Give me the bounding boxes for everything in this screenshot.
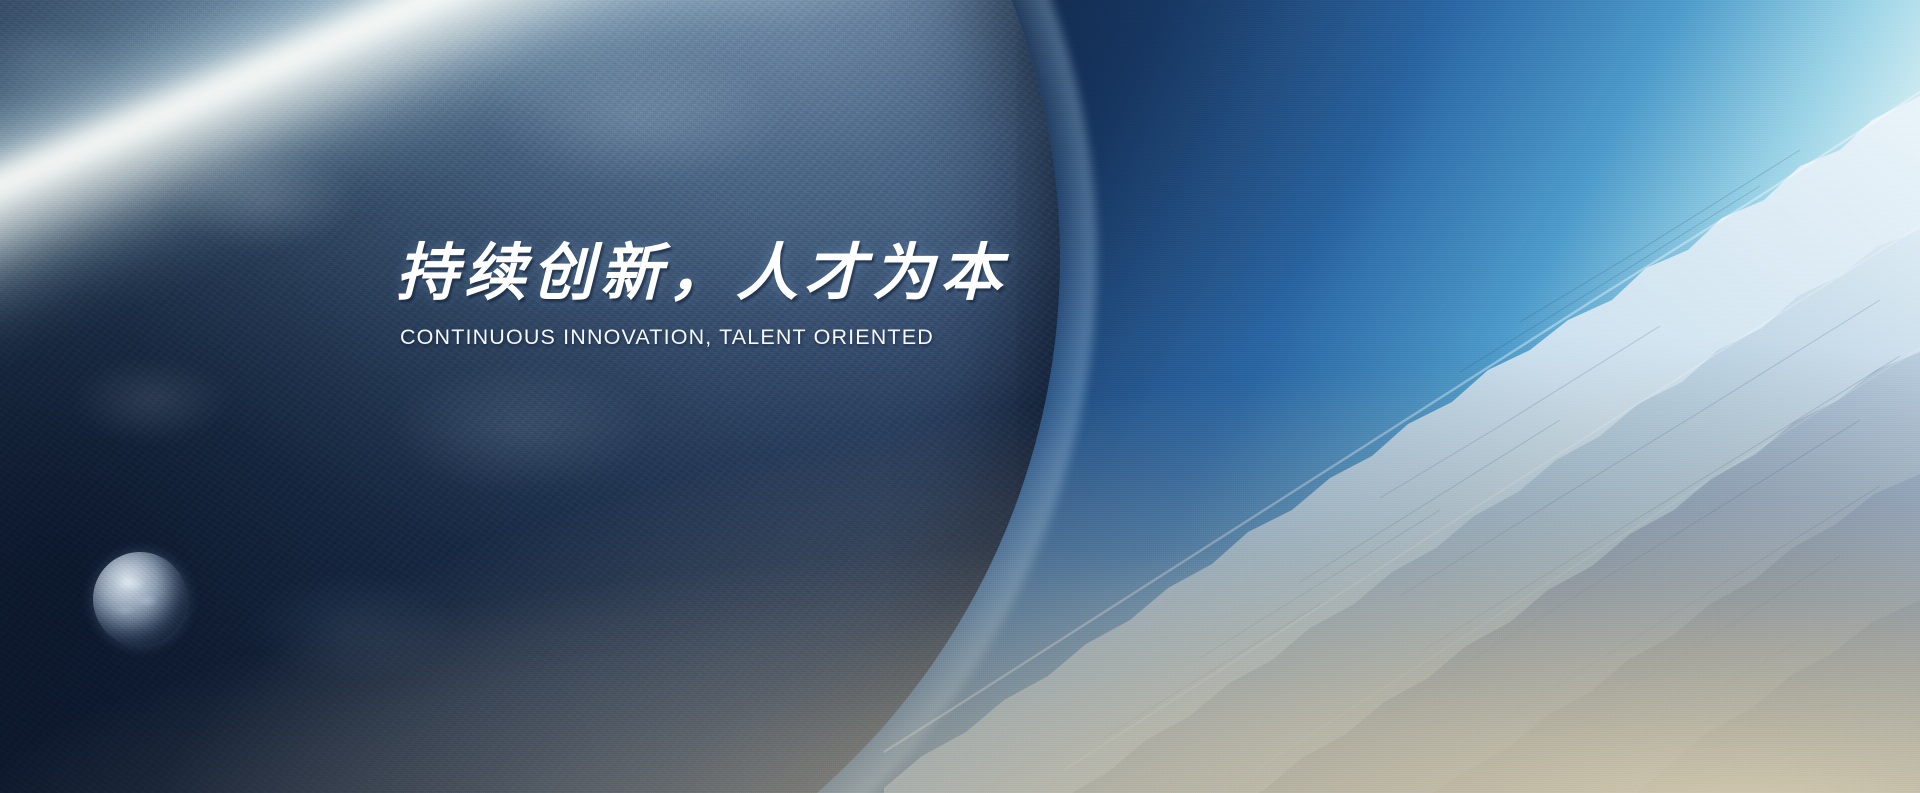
page-title: 持续创新，人才为本 (396, 238, 1156, 307)
page-subtitle: CONTINUOUS INNOVATION, TALENT ORIENTED (400, 325, 1156, 351)
banner-hero: 持续创新，人才为本 CONTINUOUS INNOVATION, TALENT … (0, 0, 1920, 793)
mountain-ridge-far (0, 0, 1920, 793)
hero-copy: 持续创新，人才为本 CONTINUOUS INNOVATION, TALENT … (396, 238, 1156, 351)
